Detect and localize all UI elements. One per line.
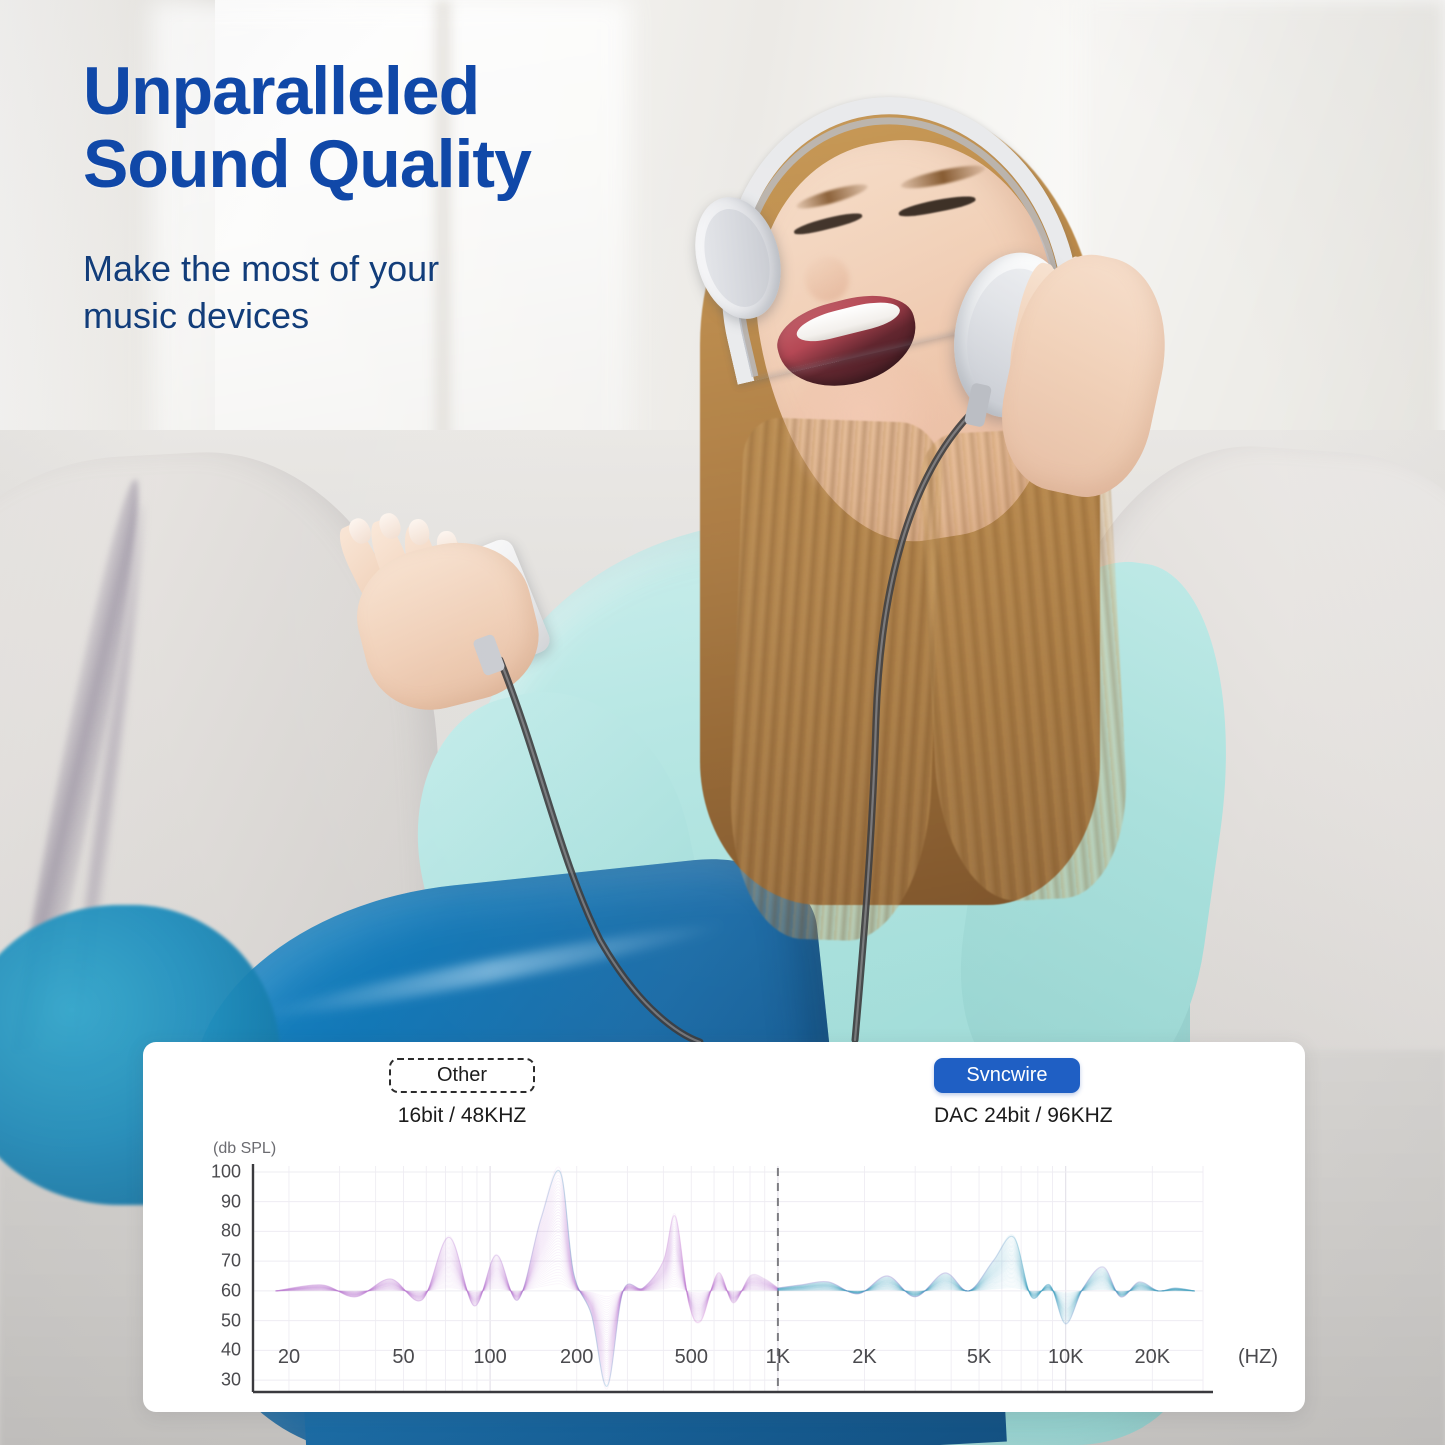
x-axis-tick: 100 bbox=[473, 1346, 506, 1369]
chart-legend: Other 16bit / 48KHZ Svncwire DAC 24bit /… bbox=[143, 1042, 1305, 1138]
page-title-line1: Unparalleled bbox=[83, 53, 479, 129]
legend-pill-svncwire[interactable]: Svncwire bbox=[934, 1058, 1080, 1093]
y-axis-unit-label: (db SPL) bbox=[213, 1140, 276, 1158]
x-axis-unit-label: (HZ) bbox=[1238, 1346, 1278, 1369]
x-axis-tick: 200 bbox=[560, 1346, 593, 1369]
page-title: Unparalleled Sound Quality bbox=[83, 55, 723, 201]
x-axis-tick: 500 bbox=[675, 1346, 708, 1369]
legend-spec-svncwire: DAC 24bit / 96KHZ bbox=[934, 1104, 1080, 1128]
x-axis-tick: 2K bbox=[852, 1346, 876, 1369]
y-axis-tick: 70 bbox=[197, 1251, 241, 1272]
legend-pill-svncwire-label: Svncwire bbox=[966, 1064, 1047, 1087]
legend-pill-other-label: Other bbox=[437, 1064, 487, 1087]
hero-headline-block: Unparalleled Sound Quality Make the most… bbox=[83, 55, 723, 340]
x-axis-tick: 10K bbox=[1048, 1346, 1084, 1369]
legend-pill-other[interactable]: Other bbox=[389, 1058, 535, 1093]
y-axis-tick: 60 bbox=[197, 1280, 241, 1301]
page-subtitle-line1: Make the most of your bbox=[83, 248, 439, 289]
page-subtitle: Make the most of your music devices bbox=[83, 245, 723, 340]
x-axis-tick: 1K bbox=[766, 1346, 790, 1369]
y-axis-tick: 50 bbox=[197, 1310, 241, 1331]
y-axis-tick: 40 bbox=[197, 1340, 241, 1361]
x-axis-tick: 20K bbox=[1135, 1346, 1171, 1369]
y-axis-tick: 30 bbox=[197, 1370, 241, 1391]
x-axis-tick: 5K bbox=[967, 1346, 991, 1369]
y-axis-tick: 100 bbox=[197, 1161, 241, 1182]
x-axis-tick: 20 bbox=[278, 1346, 300, 1369]
y-axis-tick: 80 bbox=[197, 1221, 241, 1242]
legend-spec-other: 16bit / 48KHZ bbox=[389, 1104, 535, 1128]
frequency-response-panel: Other 16bit / 48KHZ Svncwire DAC 24bit /… bbox=[143, 1042, 1305, 1412]
y-axis-tick: 90 bbox=[197, 1191, 241, 1212]
x-axis-tick-labels: 20501002005001K2K5K10K20K(HZ) bbox=[143, 1342, 1305, 1382]
page-title-line2: Sound Quality bbox=[83, 126, 531, 202]
page-subtitle-line2: music devices bbox=[83, 295, 309, 336]
x-axis-tick: 50 bbox=[392, 1346, 414, 1369]
